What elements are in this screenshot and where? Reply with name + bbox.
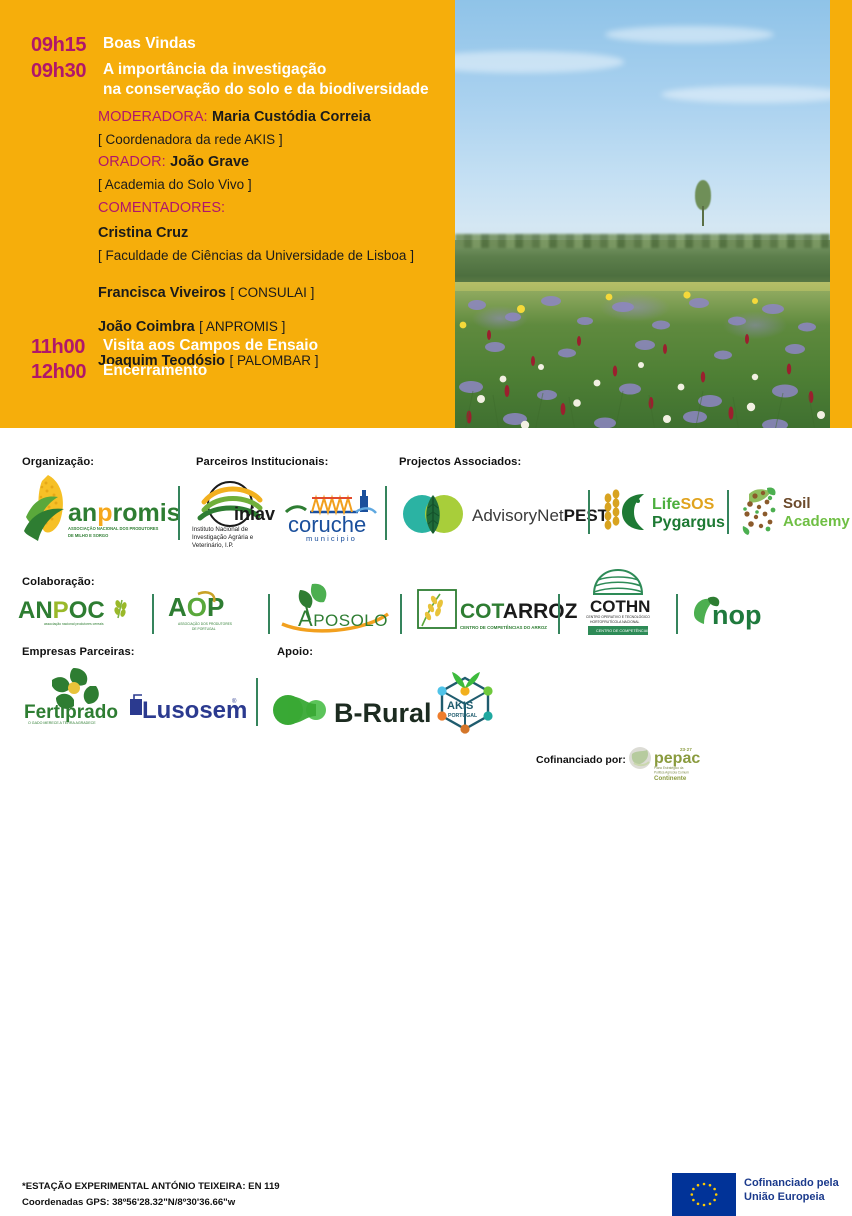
meadow-field [455,291,830,428]
venue-line1: *ESTAÇÃO EXPERIMENTAL ANTÓNIO TEIXEIRA: … [22,1179,280,1195]
commentator-name: João Coimbra [98,319,195,335]
commentator-line: João Coimbra [ ANPROMIS ] [98,315,414,338]
logo-fertiprado-text: Fertiprado [24,702,118,723]
eu-cofinance-text: Cofinanciado pela União Europeia [744,1176,839,1205]
logo-cothn[interactable]: COTHN CENTRO OPERATIVO E TECNOLÓGICO HOR… [570,566,666,636]
commentator-affiliation-line: [ Faculdade de Ciências da Universidade … [98,244,414,267]
schedule-time: 09h15 [31,34,103,57]
logo-lifesos-pygargus[interactable]: LifeSOS Pygargus [600,484,725,538]
divider [400,594,402,634]
coruche-bridge-icon [286,490,376,513]
logo-cothn-sub1: CENTRO OPERATIVO E TECNOLÓGICO [586,614,650,619]
schedule-title: Boas Vindas [103,34,196,54]
logo-anpromis-tagline2: DE MILHO E SORGO [68,533,109,538]
logo-anpoc-sub: associação nacional produtores cereais [44,622,104,626]
cotarroz-rice-icon [418,590,456,628]
section-heading-parceiros: Parceiros Institucionais: [196,456,328,468]
schedule-time: 09h30 [31,60,103,83]
section-heading-projectos: Projectos Associados: [399,456,521,468]
wildflower-meadow-photo [455,0,830,428]
moderator-role: MODERADORA: [98,109,208,125]
logo-cothn-text: COTHN [590,597,650,616]
speaker-name: João Grave [170,154,249,170]
schedule-time: 11h00 [31,336,103,359]
logo-coruche-sub: municipio [306,534,357,543]
eu-line1: Cofinanciado pela [744,1176,839,1190]
schedule-title-line2: na conservação do solo e da biodiversida… [103,81,429,98]
divider [268,594,270,634]
lone-tree [695,180,711,226]
commentator-name: Francisca Viveiros [98,285,226,301]
commentators-label: COMENTADORES: [98,200,225,216]
eu-line2: União Europeia [744,1190,839,1204]
section-heading-organizacao: Organização: [22,456,94,468]
divider [178,486,180,540]
section-heading-colaboracao: Colaboração: [22,576,95,588]
logo-iniav-line1: Instituto Nacional de [192,526,249,533]
logo-aposolo-text: APOSOLO [298,606,388,631]
logo-aop-sub1: ASSOCIAÇÃO DOS PRODUTORES [178,621,233,626]
logo-pepac-sub2: Política Agrícola Comum [654,771,689,775]
brural-dots-icon [273,695,326,725]
divider [558,594,560,634]
cloud [661,86,830,103]
logo-iniav[interactable]: iniav Instituto Nacional de Investigação… [190,480,288,548]
divider [727,490,729,534]
logo-iniav-line2: Investigação Agrária e [192,534,254,541]
commentator-affiliation: [ ANPROMIS ] [199,319,285,334]
logo-aop[interactable]: AOP ASSOCIAÇÃO DOS PRODUTORES DE PORTUGA… [164,588,260,634]
logo-pepac-years: 23·27 [680,747,692,752]
commentator-name-line: Cristina Cruz [98,221,414,244]
agenda-list: 09h15 Boas Vindas 09h30 A importância da… [0,0,455,428]
moderator-affiliation-line: [ Coordenadora da rede AKIS ] [98,128,371,151]
schedule-title: Visita aos Campos de Ensaio [103,336,318,356]
logo-soil-academy[interactable]: Soil Academy [737,484,847,536]
divider [676,594,678,634]
moderator-line: MODERADORA: Maria Custódia Correia [98,105,371,128]
logo-brural[interactable]: B-Rural [272,690,412,730]
wheat-icon [113,599,127,618]
commentator-affiliation: [ Faculdade de Ciências da Universidade … [98,248,414,263]
cothn-dome-icon [594,570,642,594]
logo-aop-text: AOP [168,592,224,622]
eu-flag [672,1173,736,1216]
logo-aop-sub2: DE PORTUGAL [192,627,216,631]
logo-lusosem-mark: ® [232,698,237,705]
agenda-banner: 09h15 Boas Vindas 09h30 A importância da… [0,0,852,428]
logo-fnop[interactable]: nop [690,592,790,634]
soil-academy-icon [743,487,776,535]
speaker-affiliation-line: [ Academia do Solo Vivo ] [98,173,252,196]
divider [588,490,590,534]
schedule-title: Encerramento [103,361,207,381]
logo-pepac-text: pepac [654,750,700,767]
logo-anpromis[interactable]: anpromis ASSOCIAÇÃO NACIONAL DOS PRODUTO… [18,473,170,543]
moderator-affiliation: [ Coordenadora da rede AKIS ] [98,132,283,147]
schedule-title: A importância da investigação na conserv… [103,60,429,100]
venue-line2: Coordenadas GPS: 38º56'28.32"N/8º30'36.6… [22,1195,280,1211]
schedule-row: 09h15 Boas Vindas [31,34,196,57]
logo-pepac-sub1: Plano Estratégico da [654,766,684,770]
logo-anpoc-text: ANPOC [18,597,105,624]
schedule-row: 12h00 Encerramento [31,361,207,384]
logo-cotarroz[interactable]: COTARROZ CENTRO DE COMPETÊNCIAS DO ARROZ [414,586,546,636]
commentator-name: Cristina Cruz [98,225,188,241]
logo-advisorynetpest[interactable]: AdvisoryNetPEST [400,486,575,540]
logo-cotarroz-text: COTARROZ [460,600,578,623]
section-heading-empresas: Empresas Parceiras: [22,646,135,658]
logo-fertiprado-sub: O GADO MERECE A TERRA AGRADECE [28,721,96,725]
logo-akis-line2: PORTUGAL [448,713,478,719]
logo-coruche[interactable]: coruche municipio [282,486,378,544]
logo-akis-line1: AKIS [447,700,473,712]
logo-cotarroz-sub: CENTRO DE COMPETÊNCIAS DO ARROZ [460,625,547,630]
logo-pepac-sub3: Continente [654,775,687,782]
logo-iniav-line3: Veterinário, I.P. [192,542,234,549]
meadow-flowers [459,291,825,428]
section-heading-cofinanciado: Cofinanciado por: [536,754,626,766]
logo-pepac[interactable]: pepac 23·27 Plano Estratégico da Polític… [628,744,694,788]
commentator-line: Francisca Viveiros [ CONSULAI ] [98,281,414,304]
logo-cothn-sub2: HORTOFRUTÍCOLA NACIONAL [590,620,640,624]
speaker-line: ORADOR: João Grave [98,150,252,173]
speaker-affiliation: [ Academia do Solo Vivo ] [98,177,252,192]
speaker-block: ORADOR: João Grave [ Academia do Solo Vi… [98,150,252,196]
logo-lusosem[interactable]: Lusosem ® [128,693,244,725]
venue-footnote: *ESTAÇÃO EXPERIMENTAL ANTÓNIO TEIXEIRA: … [22,1179,280,1211]
logo-anpoc[interactable]: ANPOC associação nacional produtores cer… [18,594,136,630]
corn-cob-icon [24,475,64,541]
speaker-role: ORADOR: [98,154,166,170]
lusosem-mark-icon [130,695,142,715]
divider [256,678,258,726]
divider [152,594,154,634]
schedule-row: 11h00 Visita aos Campos de Ensaio [31,336,318,359]
moderator-block: MODERADORA: Maria Custódia Correia [ Coo… [98,105,371,151]
logo-aposolo[interactable]: APOSOLO [276,580,394,636]
logo-akis-portugal[interactable]: AKIS PORTUGAL [424,664,506,736]
divider [385,486,387,540]
logo-brural-text: B-Rural [334,698,432,728]
logo-soil-text: Soil [783,495,811,512]
section-heading-apoio: Apoio: [277,646,313,658]
logo-fertiprado[interactable]: Fertiprado O GADO MERECE A TERRA AGRADEC… [22,664,126,726]
logo-anpromis-text: anpromis [68,499,181,527]
logo-academy-text: Academy [783,513,850,530]
sponsor-logos-area: Organização: Parceiros Institucionais: P… [0,428,852,803]
pepac-globe-icon [629,747,651,769]
logo-fnop-text: nop [712,600,761,630]
moderator-name: Maria Custódia Correia [212,109,371,125]
commentator-affiliation: [ CONSULAI ] [230,285,314,300]
logo-cothn-badge: CENTRO DE COMPETÊNCIAS [596,628,650,633]
schedule-row: 09h30 A importância da investigação na c… [31,60,429,100]
logo-lifesos-text: LifeSOS [652,496,715,513]
advisorynetpest-leaf-icon [403,495,463,534]
schedule-time: 12h00 [31,361,103,384]
cloud [605,26,774,43]
schedule-title-line1: A importância da investigação [103,61,326,78]
commentators-label-line: COMENTADORES: [98,196,414,219]
logo-anpromis-tagline1: ASSOCIAÇÃO NACIONAL DOS PRODUTORES [68,526,159,531]
logo-pygargus-text: Pygargus [652,514,725,531]
logo-iniav-text: iniav [234,504,275,524]
lifesos-wheat-bird-icon [605,489,644,530]
